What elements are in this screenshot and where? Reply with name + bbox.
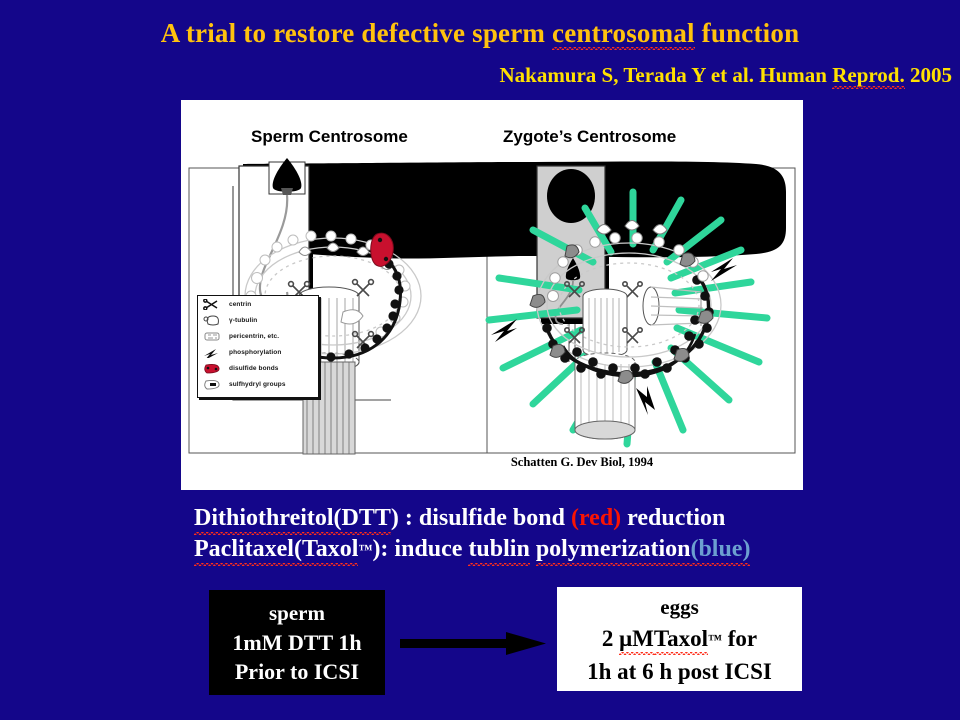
sperm-box-line-2: 1mM DTT 1h bbox=[232, 628, 361, 657]
scissors-centrin-icon bbox=[203, 299, 229, 310]
centrosome-figure-panel: Sperm Centrosome Zygote’s Centrosome cen… bbox=[181, 100, 803, 490]
authors-text-before: Nakamura S, Terada Y et al. Human bbox=[499, 63, 832, 87]
legend-label: disulfide bonds bbox=[229, 365, 279, 372]
mechanism-line-taxol: Paclitaxel(Taxol™): induce tublin polyme… bbox=[194, 534, 894, 566]
legend-item: centrin bbox=[203, 296, 318, 312]
trademark-symbol: ™ bbox=[708, 633, 722, 648]
disulfide-bond-icon bbox=[203, 363, 229, 374]
red-highlight-label: (red) bbox=[571, 505, 621, 531]
gamma-tubulin-icon bbox=[203, 315, 229, 326]
slide-canvas: A trial to restore defective sperm centr… bbox=[0, 0, 960, 720]
eggs-line2-tail: for bbox=[722, 626, 757, 651]
legend-label: phosphorylation bbox=[229, 349, 281, 356]
title-misspelled-word: centrosomal bbox=[552, 18, 695, 49]
legend-item: γ-tubulin bbox=[203, 312, 318, 328]
sperm-box-line-3: Prior to ICSI bbox=[235, 657, 359, 686]
eggs-box-line-1: eggs bbox=[660, 592, 699, 623]
eggs-box-line-2: 2 μM Taxol™ for bbox=[602, 623, 757, 656]
mechanism-line-dtt: Dithiothreitol(DTT) : disulfide bond (re… bbox=[194, 503, 894, 534]
taxol-drug-name: Paclitaxel(Taxol bbox=[194, 534, 358, 565]
trademark-symbol: ™ bbox=[358, 543, 372, 558]
citation-authors: Nakamura S, Terada Y et al. Human Reprod… bbox=[0, 63, 952, 88]
eggs-dose-number: 2 bbox=[602, 626, 619, 651]
eggs-treatment-box: eggs 2 μM Taxol™ for 1h at 6 h post ICSI bbox=[557, 587, 802, 691]
micromolar-unit: μM bbox=[619, 623, 654, 654]
pericentrin-icon bbox=[203, 331, 229, 342]
legend-item: sulfhydryl groups bbox=[203, 376, 318, 392]
figure-legend: centrin γ-tubulin pericentrin, etc. phos… bbox=[197, 295, 319, 398]
sulfhydryl-group-icon bbox=[203, 379, 229, 390]
mechanism-text-block: Dithiothreitol(DTT) : disulfide bond (re… bbox=[194, 503, 894, 566]
figure-credit: Schatten G. Dev Biol, 1994 bbox=[181, 455, 803, 470]
sperm-box-line-1: sperm bbox=[269, 599, 325, 628]
eggs-box-line-3: 1h at 6 h post ICSI bbox=[587, 656, 772, 687]
taxol-word: Taxol bbox=[654, 623, 708, 654]
dtt-mid-text: ) : disulfide bond bbox=[391, 505, 571, 531]
legend-item: disulfide bonds bbox=[203, 360, 318, 376]
phosphorylation-arrow-icon bbox=[203, 347, 229, 358]
blue-highlight-label: (blue) bbox=[690, 534, 750, 565]
legend-label: pericentrin, etc. bbox=[229, 333, 279, 340]
dtt-drug-name: Dithiothreitol(DTT bbox=[194, 503, 391, 534]
title-text-after: function bbox=[695, 18, 800, 48]
authors-misspelled-word: Reprod. bbox=[832, 63, 905, 88]
polymerization-word: polymerization bbox=[536, 534, 691, 565]
legend-item: phosphorylation bbox=[203, 344, 318, 360]
figure-header-sperm: Sperm Centrosome bbox=[251, 127, 408, 147]
right-arrow-icon bbox=[400, 630, 548, 656]
taxol-mid-text: ): induce bbox=[372, 536, 468, 562]
sperm-treatment-box: sperm 1mM DTT 1h Prior to ICSI bbox=[209, 590, 385, 695]
tublin-word: tublin bbox=[468, 534, 529, 565]
title-text-before: A trial to restore defective sperm bbox=[161, 18, 552, 48]
legend-label: γ-tubulin bbox=[229, 317, 257, 324]
legend-label: centrin bbox=[229, 301, 251, 308]
page-title: A trial to restore defective sperm centr… bbox=[0, 18, 960, 49]
figure-header-zygote: Zygote’s Centrosome bbox=[503, 127, 676, 147]
dtt-tail-text: reduction bbox=[621, 505, 725, 531]
authors-year: 2005 bbox=[905, 63, 952, 87]
legend-item: pericentrin, etc. bbox=[203, 328, 318, 344]
legend-label: sulfhydryl groups bbox=[229, 381, 286, 388]
